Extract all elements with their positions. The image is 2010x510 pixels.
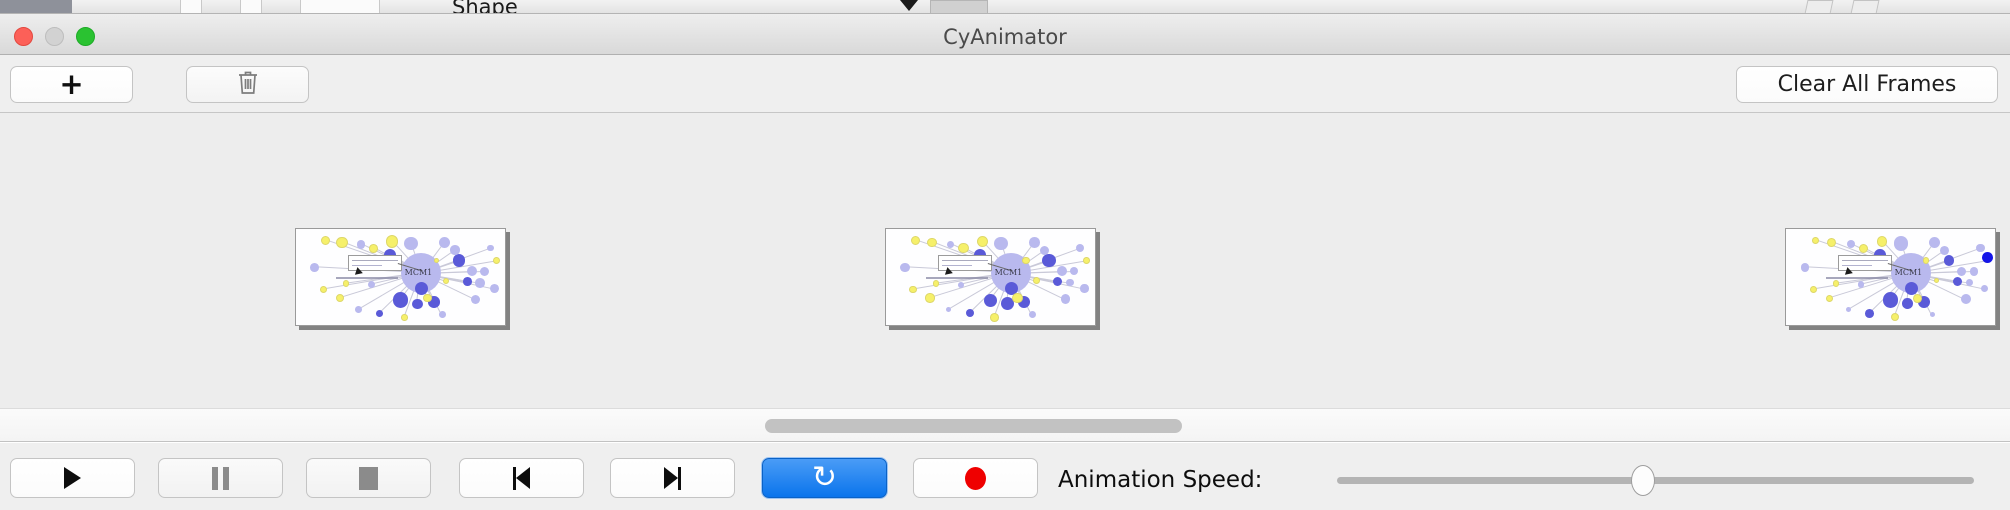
record-button[interactable] — [913, 458, 1038, 498]
graph-node — [925, 293, 934, 302]
graph-node — [369, 244, 378, 253]
graph-node — [475, 278, 485, 288]
graph-node — [1833, 280, 1840, 287]
graph-node — [1029, 311, 1036, 318]
frame-thumbnail-image: MCM1 — [1786, 229, 1995, 325]
graph-caption-text — [336, 277, 398, 279]
background-tab — [300, 0, 380, 14]
graph-node — [947, 241, 954, 248]
graph-node — [1934, 278, 1939, 283]
graph-node — [958, 243, 968, 253]
background-caret-icon — [900, 0, 918, 11]
cyanimator-window: Shape CyAnimator + — [0, 0, 2010, 510]
frame-toolbar: + Clear All Frames — [0, 55, 2010, 113]
pause-button[interactable] — [158, 458, 283, 498]
graph-node — [946, 307, 951, 312]
graph-node — [1877, 236, 1887, 246]
graph-node — [439, 237, 451, 249]
background-window-word: Shape — [452, 0, 518, 14]
graph-node — [1944, 255, 1954, 265]
graph-node — [1865, 309, 1874, 318]
graph-node — [1057, 266, 1067, 276]
frame-thumbnail-image: MCM1 — [886, 229, 1095, 325]
graph-node — [480, 267, 489, 276]
graph-node — [1883, 292, 1898, 307]
graph-node — [1066, 279, 1073, 286]
graph-node — [1801, 263, 1809, 271]
graph-node — [1040, 246, 1049, 255]
graph-node — [1930, 312, 1935, 317]
graph-node — [321, 236, 330, 245]
graph-node — [471, 295, 480, 304]
graph-node — [933, 280, 940, 287]
loop-button[interactable]: ↻ — [762, 458, 887, 498]
stop-button[interactable] — [306, 458, 431, 498]
play-icon — [64, 467, 81, 489]
graph-node — [909, 286, 917, 294]
graph-node — [1961, 294, 1971, 304]
animation-speed-slider[interactable] — [1337, 477, 1974, 484]
graph-tooltip-arrow-icon — [945, 267, 954, 277]
title-bar: CyAnimator — [0, 14, 2010, 55]
graph-node — [1976, 244, 1984, 252]
graph-node — [1891, 313, 1899, 321]
playback-control-bar: ↻ Animation Speed: — [0, 443, 2010, 510]
graph-node — [487, 245, 494, 252]
graph-node-highlight — [1982, 252, 1993, 263]
graph-node — [393, 292, 409, 308]
graph-node — [911, 236, 920, 245]
graph-node — [357, 240, 366, 249]
graph-node — [1070, 267, 1078, 275]
clear-all-frames-label: Clear All Frames — [1778, 72, 1957, 97]
pause-icon — [212, 467, 229, 490]
background-tab — [180, 0, 202, 14]
graph-node — [1847, 240, 1855, 248]
graph-node — [310, 263, 319, 272]
graph-tooltip-arrow-icon — [355, 267, 364, 277]
graph-caption-text — [926, 277, 988, 279]
background-window-strip: Shape — [0, 0, 2010, 14]
record-icon — [965, 467, 986, 490]
graph-node — [376, 310, 383, 317]
graph-node — [1913, 294, 1922, 303]
scrollbar-thumb[interactable] — [765, 419, 1182, 433]
graph-node — [467, 266, 477, 276]
graph-node — [966, 309, 974, 317]
loop-icon: ↻ — [812, 463, 837, 493]
graph-node — [1859, 244, 1868, 253]
timeline-frame[interactable]: MCM1 — [1785, 228, 1996, 326]
play-button[interactable] — [10, 458, 135, 498]
timeline-frame[interactable]: MCM1 — [295, 228, 506, 326]
graph-node — [1810, 286, 1817, 293]
graph-node — [977, 236, 988, 247]
graph-node — [1940, 246, 1949, 255]
graph-node — [463, 277, 472, 286]
window-title: CyAnimator — [0, 25, 2010, 49]
graph-node — [1902, 298, 1913, 309]
graph-hub-node-label: MCM1 — [995, 268, 1023, 277]
animation-speed-label: Animation Speed: — [1058, 467, 1262, 493]
graph-node — [1894, 236, 1908, 250]
timeline-panel[interactable]: MCM1MCM1MCM1 2131415161718 Seconds — [0, 113, 2010, 408]
graph-node — [434, 258, 439, 263]
graph-node — [453, 254, 466, 267]
graph-node — [386, 235, 398, 247]
graph-caption-text — [1826, 277, 1888, 279]
background-box — [1805, 0, 1834, 14]
graph-node — [1083, 257, 1090, 264]
delete-frame-button[interactable] — [186, 66, 309, 103]
graph-node — [343, 280, 350, 287]
graph-hub-node-label: MCM1 — [405, 268, 433, 277]
graph-node — [1061, 294, 1070, 303]
graph-node — [412, 299, 423, 310]
trash-icon — [236, 69, 260, 100]
skip-to-end-button[interactable] — [610, 458, 735, 498]
graph-node — [1846, 307, 1851, 312]
graph-node — [1957, 267, 1966, 276]
add-frame-button[interactable]: + — [10, 66, 133, 103]
graph-node — [336, 237, 347, 248]
skip-to-start-icon — [513, 467, 530, 490]
horizontal-scrollbar[interactable] — [0, 408, 2010, 442]
graph-node — [355, 306, 362, 313]
graph-node — [1812, 237, 1819, 244]
background-tab — [240, 0, 262, 14]
graph-tooltip-arrow-icon — [1845, 267, 1854, 277]
graph-node — [450, 245, 459, 254]
graph-node — [1953, 277, 1962, 286]
graph-node — [1029, 237, 1039, 247]
graph-node — [1022, 257, 1029, 264]
graph-node — [1826, 295, 1833, 302]
graph-node — [994, 237, 1008, 251]
graph-node — [990, 313, 999, 322]
graph-node — [439, 311, 446, 318]
graph-node — [490, 284, 499, 293]
plus-icon: + — [59, 70, 83, 99]
skip-to-start-button[interactable] — [459, 458, 584, 498]
animation-speed-slider-thumb[interactable] — [1631, 465, 1655, 496]
graph-node — [1970, 267, 1979, 276]
timeline-frame[interactable]: MCM1 — [885, 228, 1096, 326]
graph-node — [336, 294, 344, 302]
graph-node — [401, 314, 407, 320]
graph-node — [900, 263, 909, 272]
graph-node — [320, 286, 327, 293]
stop-icon — [359, 467, 378, 490]
graph-node — [984, 294, 997, 307]
graph-node — [493, 257, 500, 264]
background-box — [930, 0, 988, 14]
graph-node — [927, 238, 937, 248]
graph-node — [1929, 237, 1940, 248]
graph-node — [1080, 284, 1088, 292]
frame-thumbnail-image: MCM1 — [296, 229, 505, 325]
graph-node — [1042, 254, 1055, 267]
background-box — [1851, 0, 1880, 14]
graph-node — [1053, 277, 1062, 286]
clear-all-frames-button[interactable]: Clear All Frames — [1736, 66, 1998, 103]
graph-node — [1981, 285, 1989, 293]
graph-node — [1033, 277, 1040, 284]
background-sidebar — [0, 0, 72, 14]
graph-node — [958, 282, 964, 288]
graph-node — [443, 278, 449, 284]
graph-hub-node-label: MCM1 — [1895, 268, 1923, 277]
graph-node — [404, 237, 417, 250]
graph-node — [1076, 244, 1084, 252]
skip-to-end-icon — [664, 467, 681, 490]
